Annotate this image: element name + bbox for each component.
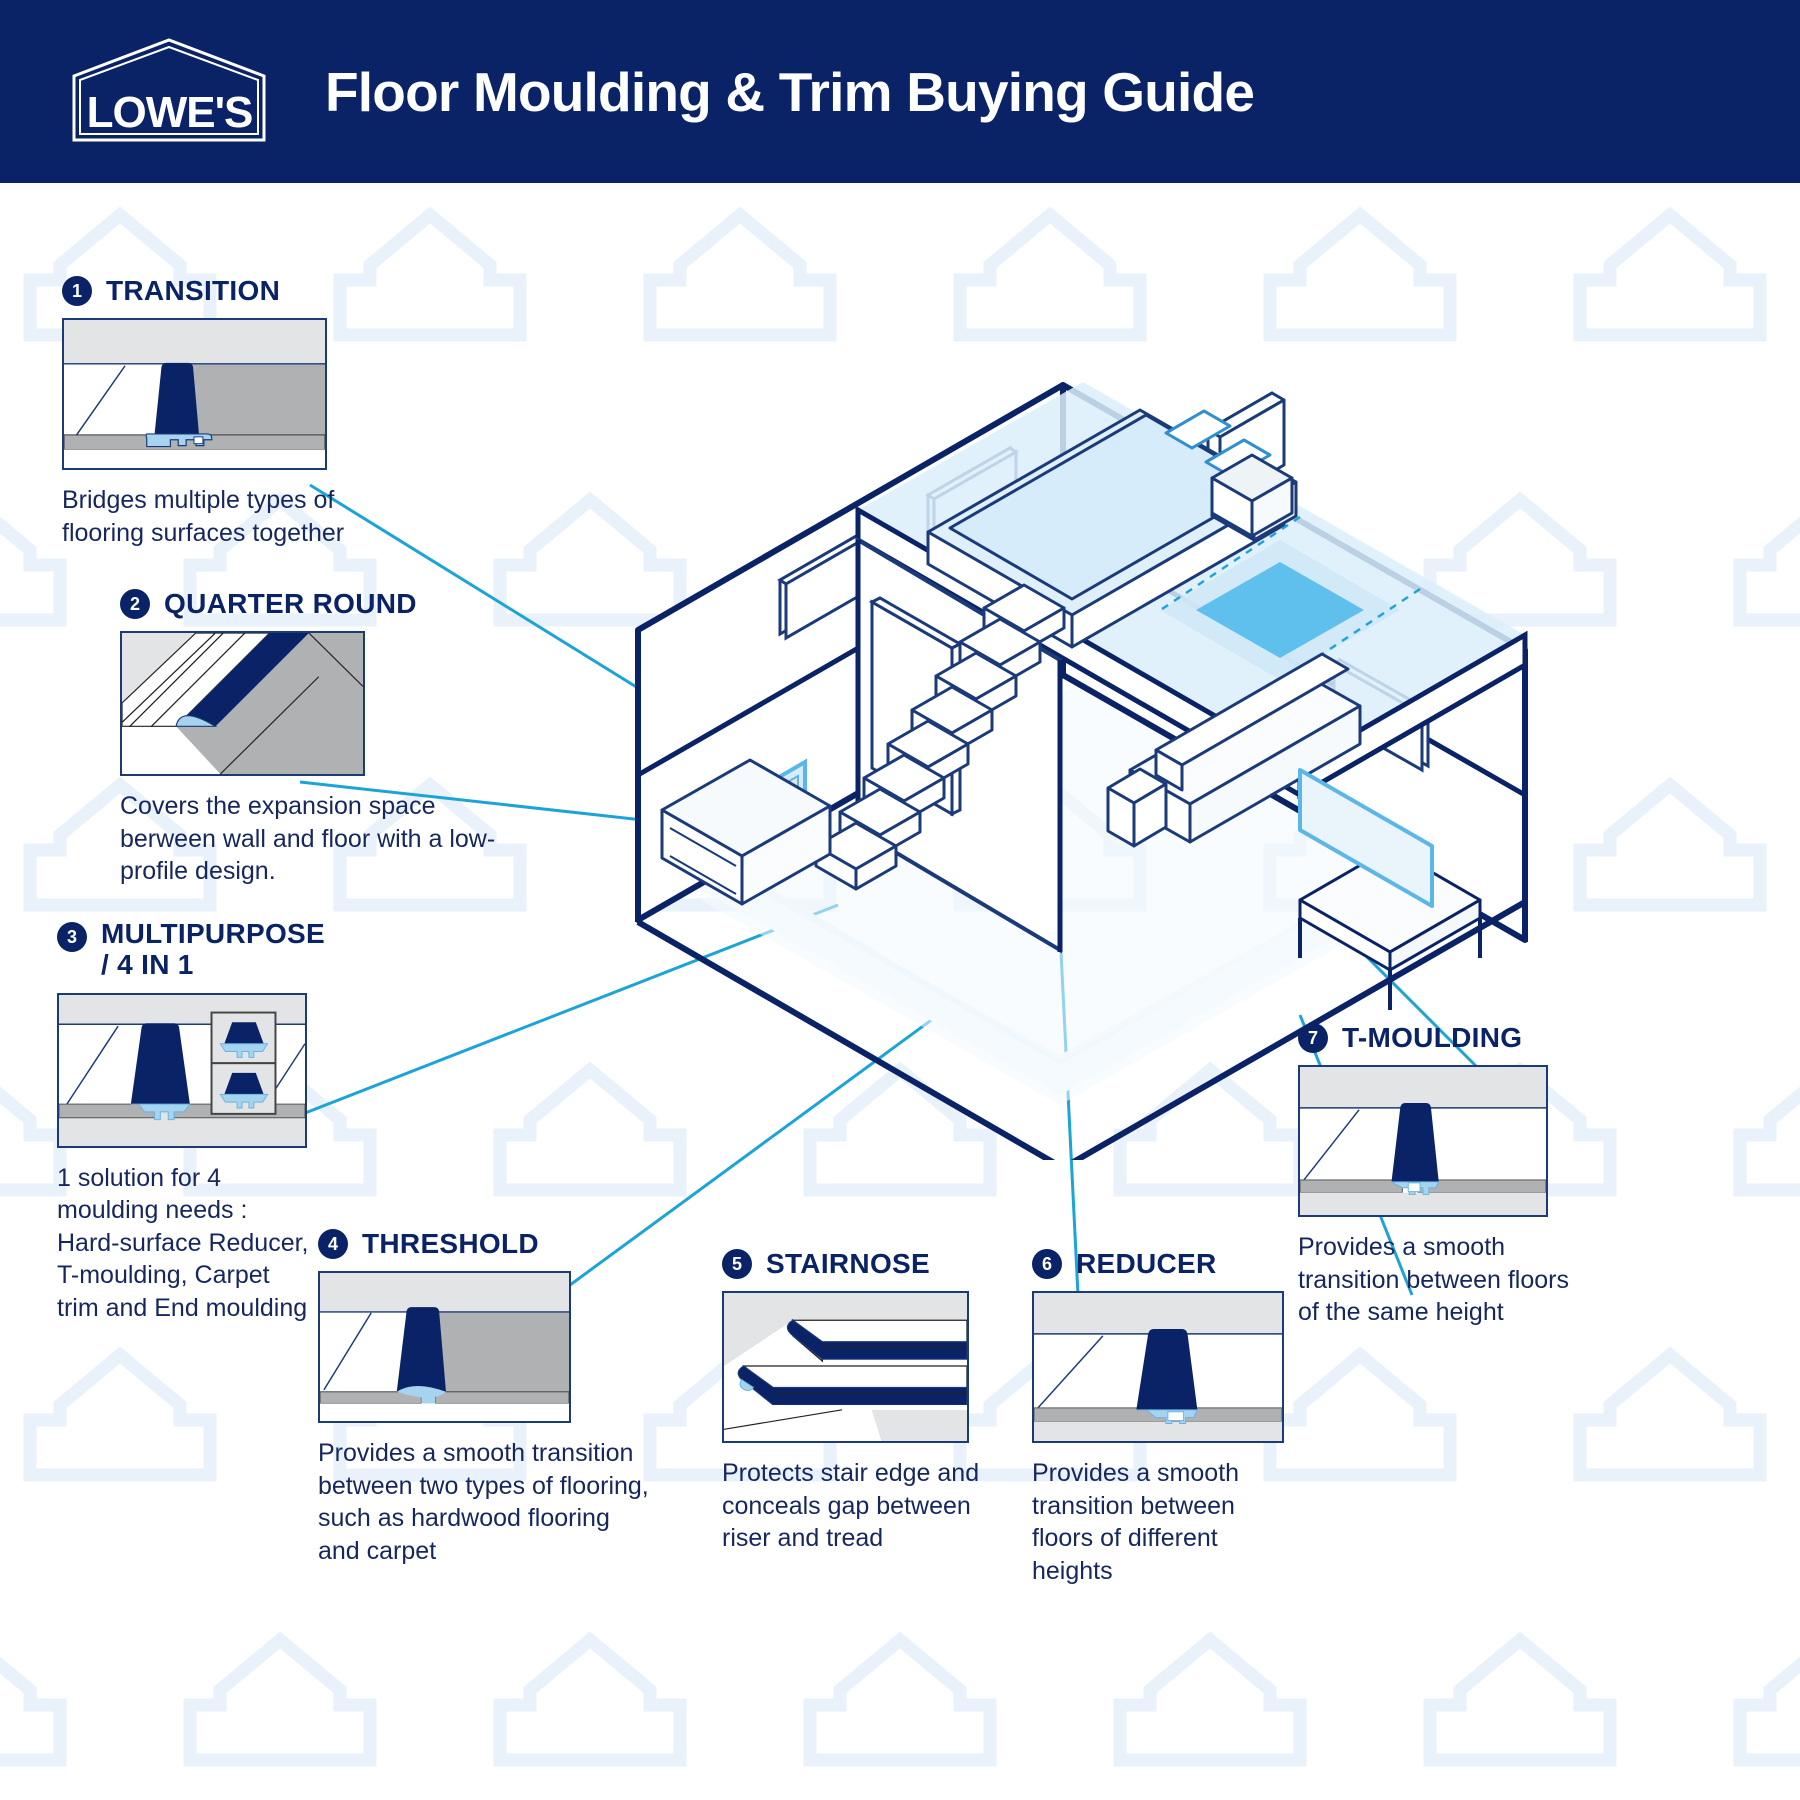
infographic-page: LOWE'S Floor Moulding & Trim Buying Guid… <box>0 0 1800 1800</box>
card-header: 2 QUARTER ROUND <box>120 588 520 619</box>
card-title: THRESHOLD <box>362 1228 539 1259</box>
card-title-group: MULTIPURPOSE / 4 IN 1 <box>101 918 325 981</box>
card-description: Protects stair edge and conceals gap bet… <box>722 1457 982 1555</box>
card-header: 4 THRESHOLD <box>318 1228 718 1259</box>
reducer-profile-diagram <box>1032 1291 1284 1443</box>
card-header: 3 MULTIPURPOSE / 4 IN 1 <box>57 918 457 981</box>
card-description: Provides a smooth transition between flo… <box>1298 1231 1583 1329</box>
card-description: Bridges multiple types of flooring surfa… <box>62 484 422 549</box>
lowes-logo-text: LOWE'S <box>62 36 277 146</box>
moulding-card-transition: 1 TRANSITION Bridges multiple types of f… <box>62 275 422 549</box>
card-title: T-MOULDING <box>1342 1022 1522 1053</box>
transition-profile-diagram <box>62 318 327 470</box>
card-title: QUARTER ROUND <box>164 588 417 619</box>
card-title-line1: MULTIPURPOSE <box>101 918 325 949</box>
page-header: LOWE'S Floor Moulding & Trim Buying Guid… <box>0 0 1800 183</box>
badge-number: 7 <box>1298 1023 1328 1053</box>
badge-number: 6 <box>1032 1249 1062 1279</box>
isometric-house-illustration <box>600 210 1560 1160</box>
card-description: Provides a smooth transition between two… <box>318 1437 653 1567</box>
badge-number: 2 <box>120 589 150 619</box>
card-title-line2: / 4 IN 1 <box>101 949 325 980</box>
moulding-card-t-moulding: 7 T-MOULDING Provides a smooth transitio… <box>1298 1022 1658 1329</box>
card-title: STAIRNOSE <box>766 1248 930 1279</box>
card-header: 7 T-MOULDING <box>1298 1022 1658 1053</box>
card-header: 5 STAIRNOSE <box>722 1248 1052 1279</box>
stairnose-profile-diagram <box>722 1291 969 1443</box>
card-description: 1 solution for 4 moulding needs : Hard-s… <box>57 1162 312 1325</box>
multipurpose-profile-diagram <box>57 993 307 1148</box>
lowes-logo: LOWE'S <box>62 36 277 146</box>
card-title: REDUCER <box>1076 1248 1217 1279</box>
threshold-profile-diagram <box>318 1271 571 1423</box>
card-description: Provides a smooth transition between flo… <box>1032 1457 1302 1587</box>
quarter-round-profile-diagram <box>120 631 365 776</box>
badge-number: 4 <box>318 1229 348 1259</box>
badge-number: 3 <box>57 922 87 952</box>
card-header: 1 TRANSITION <box>62 275 422 306</box>
moulding-card-stairnose: 5 STAIRNOSE <box>722 1248 1052 1555</box>
moulding-card-quarter-round: 2 QUARTER ROUND Covers the expansion spa… <box>120 588 520 888</box>
moulding-card-threshold: 4 THRESHOLD Provides a smooth transition… <box>318 1228 718 1567</box>
t-moulding-profile-diagram <box>1298 1065 1548 1217</box>
card-description: Covers the expansion space berween wall … <box>120 790 520 888</box>
badge-number: 5 <box>722 1249 752 1279</box>
badge-number: 1 <box>62 276 92 306</box>
card-title: TRANSITION <box>106 275 280 306</box>
page-title: Floor Moulding & Trim Buying Guide <box>325 60 1254 124</box>
